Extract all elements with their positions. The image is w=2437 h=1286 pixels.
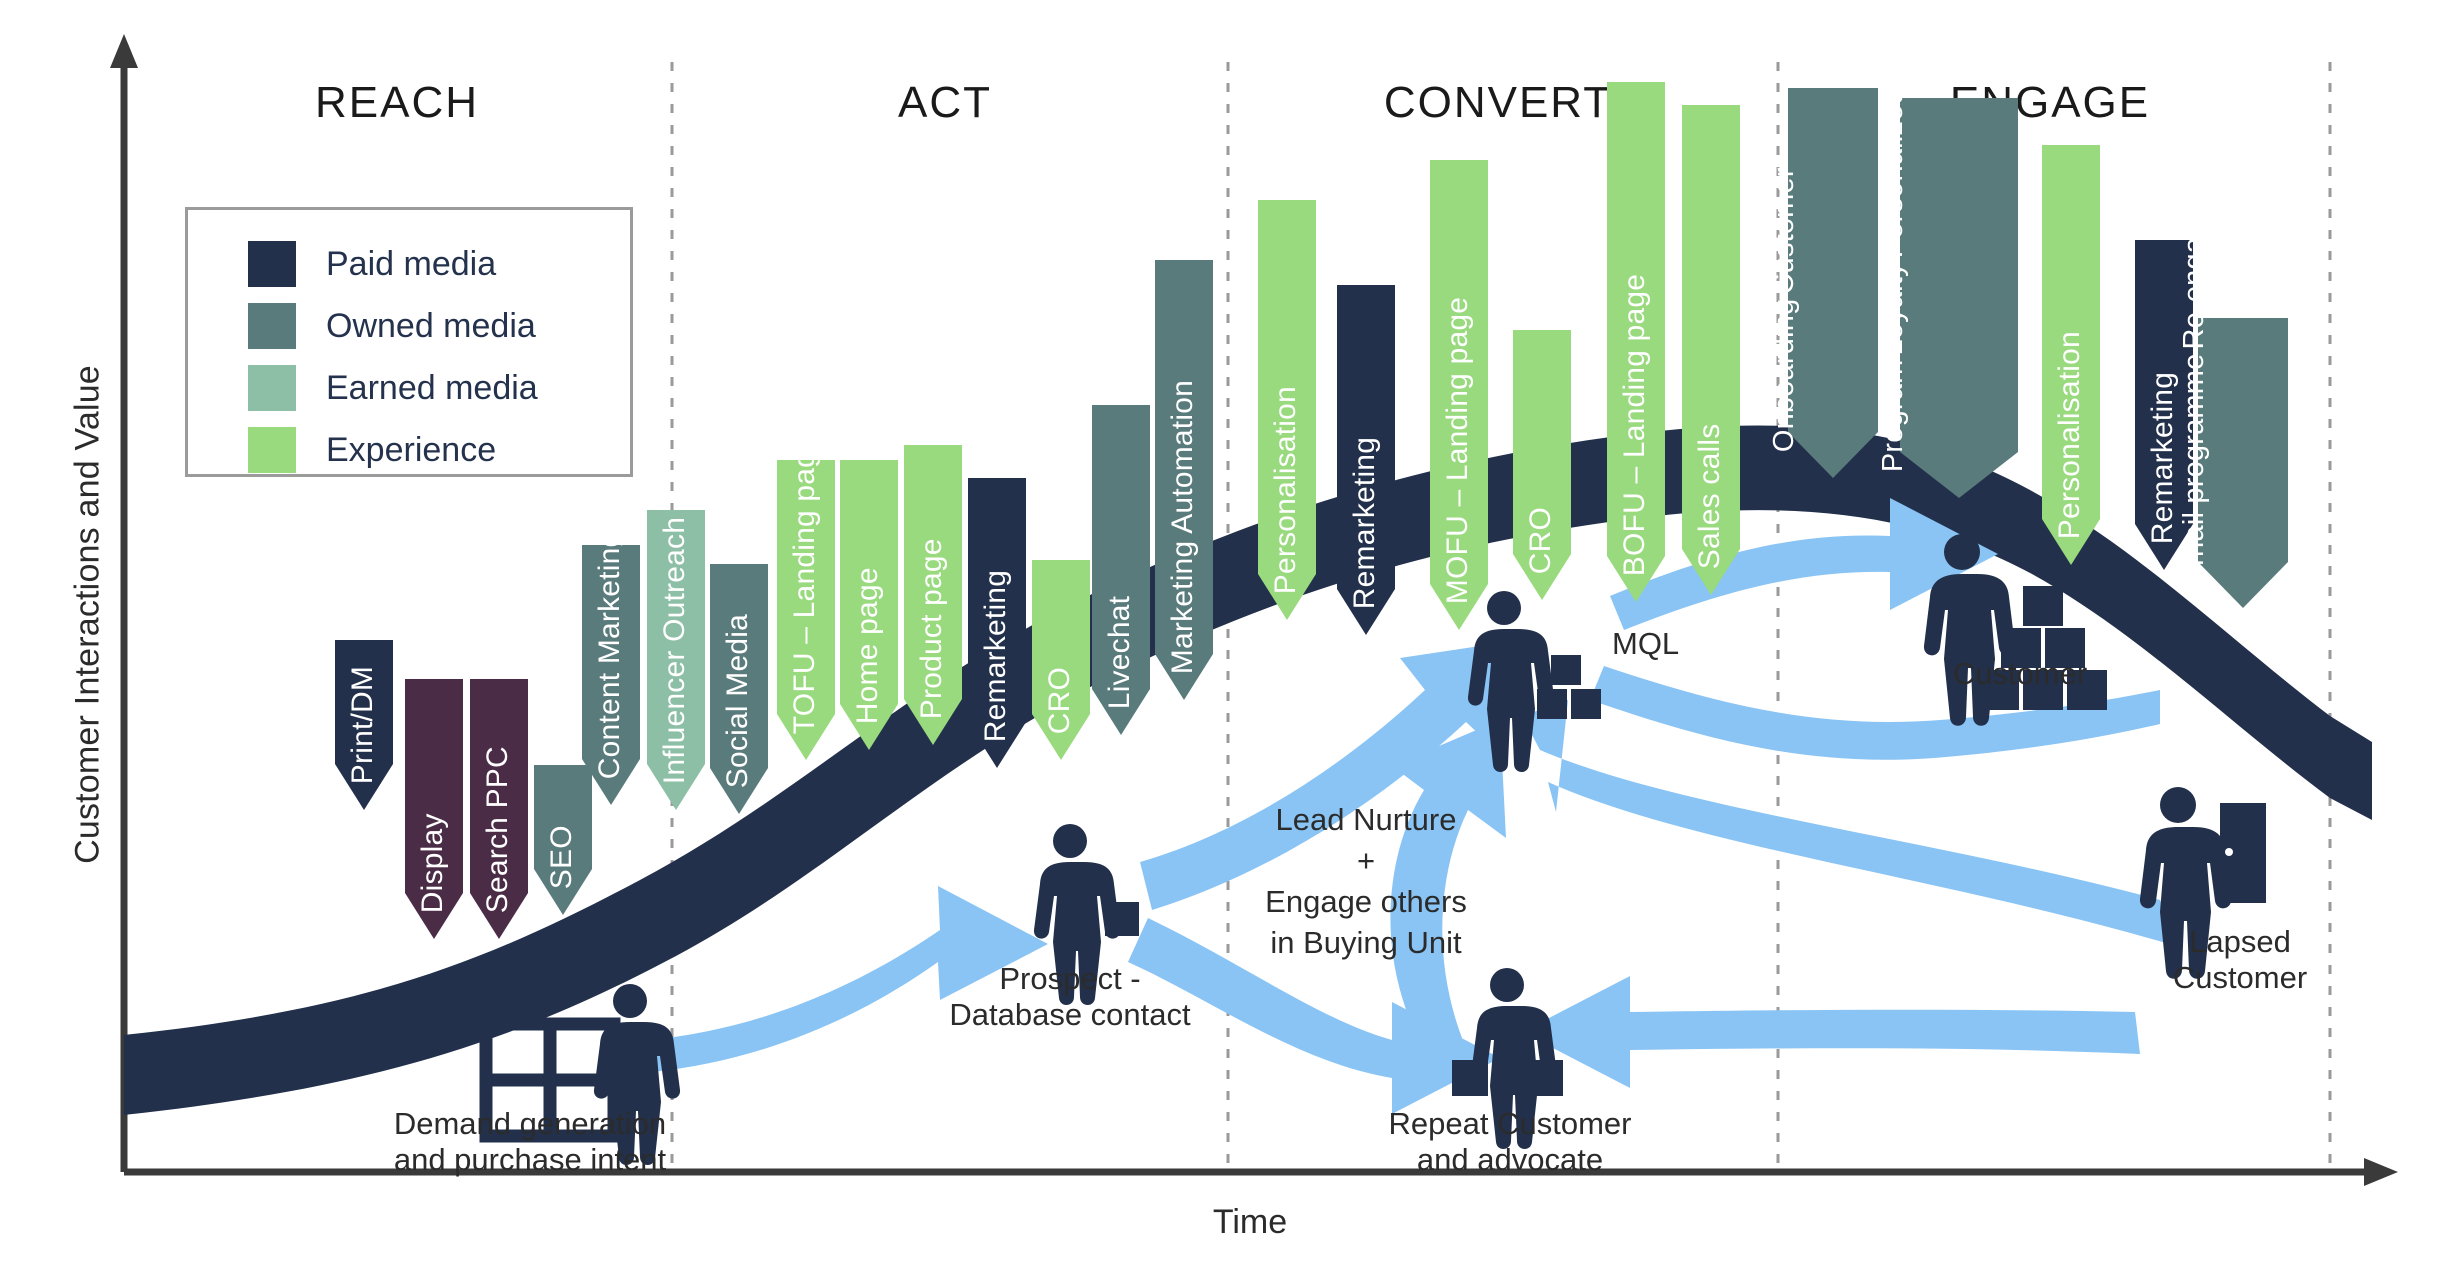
channel-arrow-label-personalisation-eng: Personalisation <box>2054 331 2085 539</box>
channel-arrow-label-home-page: Home page <box>852 567 883 724</box>
box-icon-mql-left <box>1537 689 1567 719</box>
channel-arrow-influencer-outreach[interactable]: Influencer Outreach <box>647 510 705 810</box>
box-icon-customer-1 <box>2023 586 2063 626</box>
node-caption-mql: MQL <box>1612 626 1679 662</box>
node-demand-generation: Demand generation and purchase intent <box>330 1100 730 1178</box>
box-icon-mql-right <box>1571 689 1601 719</box>
phase-title-act: ACT <box>898 78 992 128</box>
node-caption-prospect: Prospect - Database contact <box>900 961 1240 1033</box>
node-caption-repeat-customer: Repeat Customer and advocate <box>1340 1106 1680 1178</box>
arrow-label-line: email programme <box>2179 353 2209 582</box>
channel-arrow-label-loyalty-program: PersonalizedLoyaltyProgram <box>1878 88 1908 472</box>
legend-label-earned-media: Earned media <box>326 369 538 408</box>
channel-arrow-personalisation-conv[interactable]: Personalisation <box>1258 200 1316 620</box>
channel-arrow-label-re-engagement-email: Re-engagementemail programme <box>2179 139 2209 582</box>
channel-arrow-livechat[interactable]: Livechat <box>1092 405 1150 735</box>
node-lapsed-customer: Lapsed Customer <box>2110 918 2370 996</box>
node-caption-lapsed-customer: Lapsed Customer <box>2110 924 2370 996</box>
channel-arrow-search-ppc[interactable]: Search PPC <box>470 679 528 939</box>
channel-arrow-sales-calls[interactable]: Sales calls <box>1682 105 1740 595</box>
channel-arrow-label-print-dm: Print/DM <box>347 666 378 784</box>
arrow-shape <box>1788 88 1878 478</box>
channel-arrow-print-dm[interactable]: Print/DM <box>335 640 393 810</box>
phase-title-convert: CONVERT <box>1384 78 1612 128</box>
channel-arrow-mofu-landing-page[interactable]: MOFU – Landing page <box>1430 160 1488 630</box>
legend-swatch-experience <box>248 427 296 473</box>
channel-arrow-re-engagement-email[interactable]: Re-engagementemail programme <box>2198 318 2288 608</box>
phase-title-reach: REACH <box>315 78 479 128</box>
channel-arrow-label-remarketing-conv: Remarketing <box>1349 437 1380 609</box>
channel-arrow-label-social-media: Social Media <box>722 614 753 788</box>
box-icon-prospect <box>1105 902 1139 936</box>
channel-arrow-social-media[interactable]: Social Media <box>710 564 768 814</box>
legend-item-owned-media: Owned media <box>248 298 630 354</box>
node-caption-customer: Customer <box>1890 656 2150 692</box>
channel-arrow-label-bofu-landing-page: BOFU – Landing page <box>1619 274 1650 576</box>
box-icon-repeat-left <box>1452 1060 1488 1096</box>
arrow-label-line: Re-engagement <box>2179 139 2209 350</box>
channel-arrow-label-marketing-automation: Marketing Automation <box>1167 380 1198 674</box>
legend-item-experience: Experience <box>248 422 630 478</box>
flow-arrow-lapsed-to-repeat <box>1522 976 2140 1088</box>
arrow-shape <box>1900 98 2018 498</box>
x-axis-arrowhead <box>2364 1158 2398 1186</box>
arrow-shape <box>2198 318 2288 608</box>
channel-arrow-label-customer-onboarding: CustomerOnboarding <box>1769 167 1799 452</box>
channel-arrow-label-display: Display <box>417 813 448 913</box>
box-icon-mql-top <box>1551 655 1581 685</box>
channel-arrow-label-mofu-landing-page: MOFU – Landing page <box>1442 297 1473 604</box>
arrow-label-line: Loyalty <box>1878 262 1908 355</box>
node-customer: Customer <box>1890 650 2150 692</box>
channel-arrow-display[interactable]: Display <box>405 679 463 939</box>
channel-arrow-remarketing-conv[interactable]: Remarketing <box>1337 285 1395 635</box>
channel-arrow-tofu-landing-page[interactable]: TOFU – Landing page <box>777 460 835 760</box>
node-prospect: Prospect - Database contact <box>900 955 1240 1033</box>
legend-swatch-earned-media <box>248 365 296 411</box>
channel-arrow-personalisation-eng[interactable]: Personalisation <box>2042 145 2100 565</box>
node-caption-demand-generation: Demand generation and purchase intent <box>330 1106 730 1178</box>
legend-label-paid-media: Paid media <box>326 245 496 284</box>
arrow-label-line: Onboarding <box>1769 298 1799 452</box>
channel-arrow-label-remarketing-act: Remarketing <box>980 570 1011 742</box>
arrow-label-line: Customer <box>1769 167 1799 294</box>
channel-arrow-cro-act[interactable]: CRO <box>1032 560 1090 760</box>
legend-item-paid-media: Paid media <box>248 236 630 292</box>
box-icon-repeat-right <box>1527 1060 1563 1096</box>
channel-arrow-label-influencer-outreach: Influencer Outreach <box>659 517 690 784</box>
channel-arrow-label-tofu-landing-page: TOFU – Landing page <box>789 434 820 734</box>
note-lead-nurture: Lead Nurture + Engage others in Buying U… <box>1226 800 1506 964</box>
channel-arrow-customer-onboarding[interactable]: CustomerOnboarding <box>1788 88 1878 478</box>
channel-arrow-label-search-ppc: Search PPC <box>482 746 513 913</box>
channel-arrow-remarketing-act[interactable]: Remarketing <box>968 478 1026 768</box>
channel-arrow-bofu-landing-page[interactable]: BOFU – Landing page <box>1607 82 1665 602</box>
channel-arrow-cro-convert[interactable]: CRO <box>1513 330 1571 600</box>
node-repeat-customer: Repeat Customer and advocate <box>1340 1100 1680 1178</box>
arrow-label-line: Program <box>1878 359 1908 472</box>
y-axis <box>110 34 138 1172</box>
legend-swatch-paid-media <box>248 241 296 287</box>
channel-arrow-label-cro-act: CRO <box>1044 667 1075 734</box>
channel-arrow-label-seo: SEO <box>546 825 577 889</box>
y-axis-arrowhead <box>110 34 138 68</box>
channel-arrow-home-page[interactable]: Home page <box>840 460 898 750</box>
channel-arrow-label-content-marketing: Content Marketing <box>594 530 625 779</box>
channel-arrow-loyalty-program[interactable]: PersonalizedLoyaltyProgram <box>1900 98 2018 498</box>
door-icon <box>2220 803 2266 903</box>
y-axis-label: Customer Interactions and Value <box>69 255 108 975</box>
legend-label-owned-media: Owned media <box>326 307 536 346</box>
legend: Paid media Owned media Earned media Expe… <box>185 207 633 477</box>
channel-arrow-content-marketing[interactable]: Content Marketing <box>582 545 640 805</box>
lifecycle-diagram: Customer Interactions and Value Time REA… <box>0 0 2437 1286</box>
channel-arrow-label-cro-convert: CRO <box>1525 507 1556 574</box>
channel-arrow-label-livechat: Livechat <box>1104 596 1135 709</box>
channel-arrow-label-sales-calls: Sales calls <box>1694 423 1725 569</box>
arrow-label-line: Personalized <box>1878 88 1908 258</box>
channel-arrow-label-personalisation-conv: Personalisation <box>1270 386 1301 594</box>
channel-arrow-product-page[interactable]: Product page <box>904 445 962 745</box>
channel-arrow-label-remarketing-eng: Remarketing <box>2147 372 2178 544</box>
legend-item-earned-media: Earned media <box>248 360 630 416</box>
channel-arrow-label-product-page: Product page <box>916 538 947 719</box>
channel-arrow-marketing-automation[interactable]: Marketing Automation <box>1155 260 1213 700</box>
legend-swatch-owned-media <box>248 303 296 349</box>
legend-label-experience: Experience <box>326 431 496 470</box>
x-axis-label: Time <box>1100 1203 1400 1242</box>
